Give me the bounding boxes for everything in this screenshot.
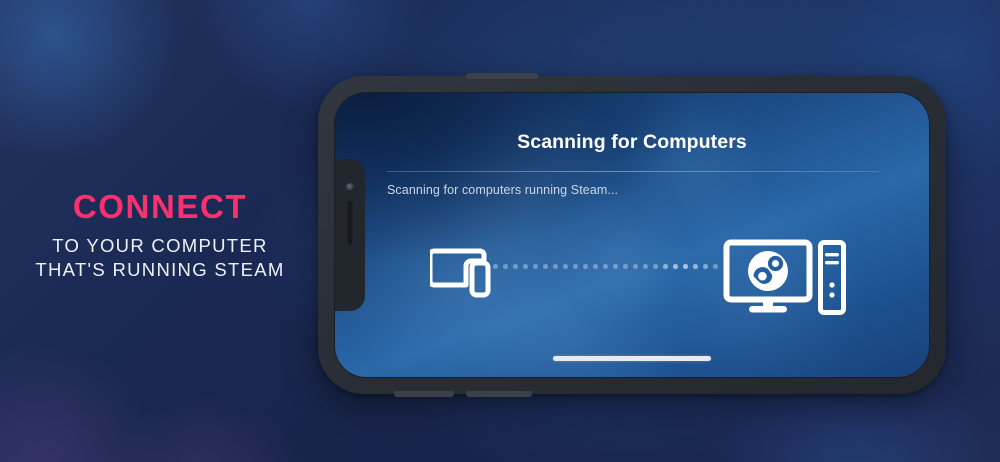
connection-dot <box>533 264 538 269</box>
connection-dot <box>523 264 528 269</box>
connection-dot <box>683 264 688 269</box>
phone-bezel: Scanning for Computers Scanning for comp… <box>334 92 930 378</box>
page-title: Scanning for Computers <box>335 131 929 154</box>
bokeh-blob <box>0 345 170 462</box>
connection-dot <box>643 264 648 269</box>
promo-banner: CONNECT TO YOUR COMPUTER THAT'S RUNNING … <box>0 0 1000 462</box>
connection-dot <box>673 264 678 269</box>
connection-dot <box>713 264 718 269</box>
promo-headline: CONNECT <box>0 190 320 225</box>
phone-mockup: Scanning for Computers Scanning for comp… <box>318 76 946 394</box>
connection-dot <box>653 264 658 269</box>
connection-dot <box>563 264 568 269</box>
promo-subline-line1: TO YOUR COMPUTER <box>0 234 320 259</box>
status-text: Scanning for computers running Steam... <box>387 183 618 197</box>
promo-subline-line2: THAT'S RUNNING STEAM <box>0 258 320 283</box>
home-indicator[interactable] <box>553 356 711 361</box>
connection-dot <box>573 264 578 269</box>
connection-dot <box>663 264 668 269</box>
connection-dot <box>593 264 598 269</box>
connection-dot <box>553 264 558 269</box>
phone-screen: Scanning for Computers Scanning for comp… <box>335 93 929 377</box>
phone-notch <box>335 159 365 311</box>
connection-dot <box>603 264 608 269</box>
volume-up-button[interactable] <box>394 391 454 397</box>
connection-dot <box>633 264 638 269</box>
header-divider <box>387 171 879 172</box>
earpiece-speaker-icon <box>348 201 353 245</box>
connection-dot <box>623 264 628 269</box>
connection-dot <box>693 264 698 269</box>
connection-dot <box>543 264 548 269</box>
mobile-devices-icon <box>430 241 492 304</box>
volume-down-button[interactable] <box>466 391 532 397</box>
power-button[interactable] <box>466 73 538 79</box>
connection-illustration <box>335 241 929 321</box>
connection-dot <box>493 264 498 269</box>
promo-subline: TO YOUR COMPUTER THAT'S RUNNING STEAM <box>0 234 320 283</box>
connection-dot <box>613 264 618 269</box>
desktop-computer-icon <box>723 235 847 328</box>
connection-dot <box>583 264 588 269</box>
bokeh-blob <box>95 395 315 462</box>
bokeh-blob <box>0 0 180 160</box>
connection-dot <box>513 264 518 269</box>
dotted-connection-line <box>493 264 715 274</box>
connection-dot <box>703 264 708 269</box>
front-camera-icon <box>346 183 355 192</box>
promo-copy: CONNECT TO YOUR COMPUTER THAT'S RUNNING … <box>0 190 320 283</box>
connection-dot <box>503 264 508 269</box>
